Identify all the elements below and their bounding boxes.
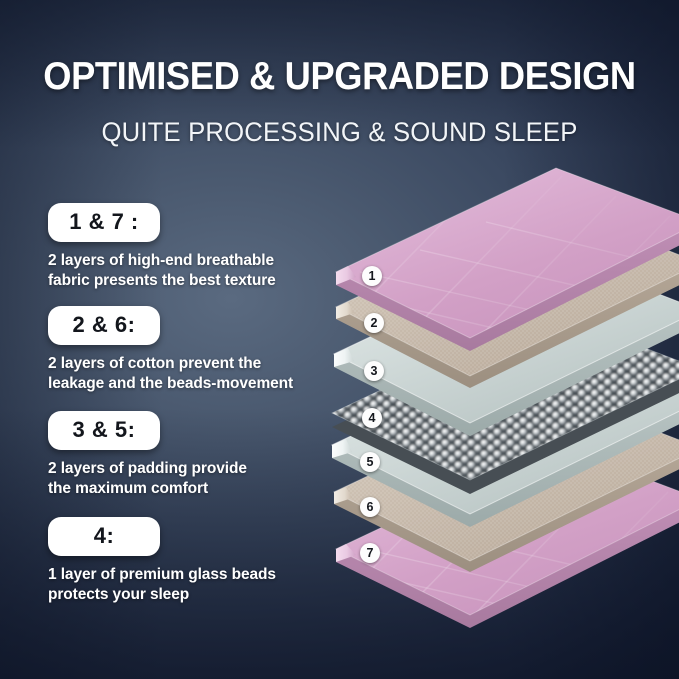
info-block-4: 4: 1 layer of premium glass beads protec… [48,517,276,605]
layer-badge-3-label: 3 [371,364,378,378]
layer-badge-7-label: 7 [367,546,374,560]
layer-badge-5[interactable]: 5 [360,452,380,472]
layer-badge-1-label: 1 [369,269,376,283]
info-description-4: 1 layer of premium glass beads protects … [48,565,276,605]
info-pill-3: 3 & 5: [48,411,160,450]
layer-badge-4-label: 4 [369,411,376,425]
layer-badge-6[interactable]: 6 [360,497,380,517]
layer-badge-3[interactable]: 3 [364,361,384,381]
product-infographic: OPTIMISED & UPGRADED DESIGN QUITE PROCES… [0,0,679,679]
layer-badge-2[interactable]: 2 [364,313,384,333]
layer-badge-4[interactable]: 4 [362,408,382,428]
info-block-3: 3 & 5: 2 layers of padding provide the m… [48,411,247,499]
info-block-1: 1 & 7 : 2 layers of high-end breathable … [48,203,276,291]
layer-badge-5-label: 5 [367,455,374,469]
info-pill-1: 1 & 7 : [48,203,160,242]
info-description-2: 2 layers of cotton prevent the leakage a… [48,354,293,394]
info-description-1: 2 layers of high-end breathable fabric p… [48,251,276,291]
info-pill-2: 2 & 6: [48,306,160,345]
layer-badge-6-label: 6 [367,500,374,514]
layer-badge-2-label: 2 [371,316,378,330]
info-pill-4: 4: [48,517,160,556]
info-block-2: 2 & 6: 2 layers of cotton prevent the le… [48,306,293,394]
layer-badge-7[interactable]: 7 [360,543,380,563]
layer-badge-1[interactable]: 1 [362,266,382,286]
info-description-3: 2 layers of padding provide the maximum … [48,459,247,499]
